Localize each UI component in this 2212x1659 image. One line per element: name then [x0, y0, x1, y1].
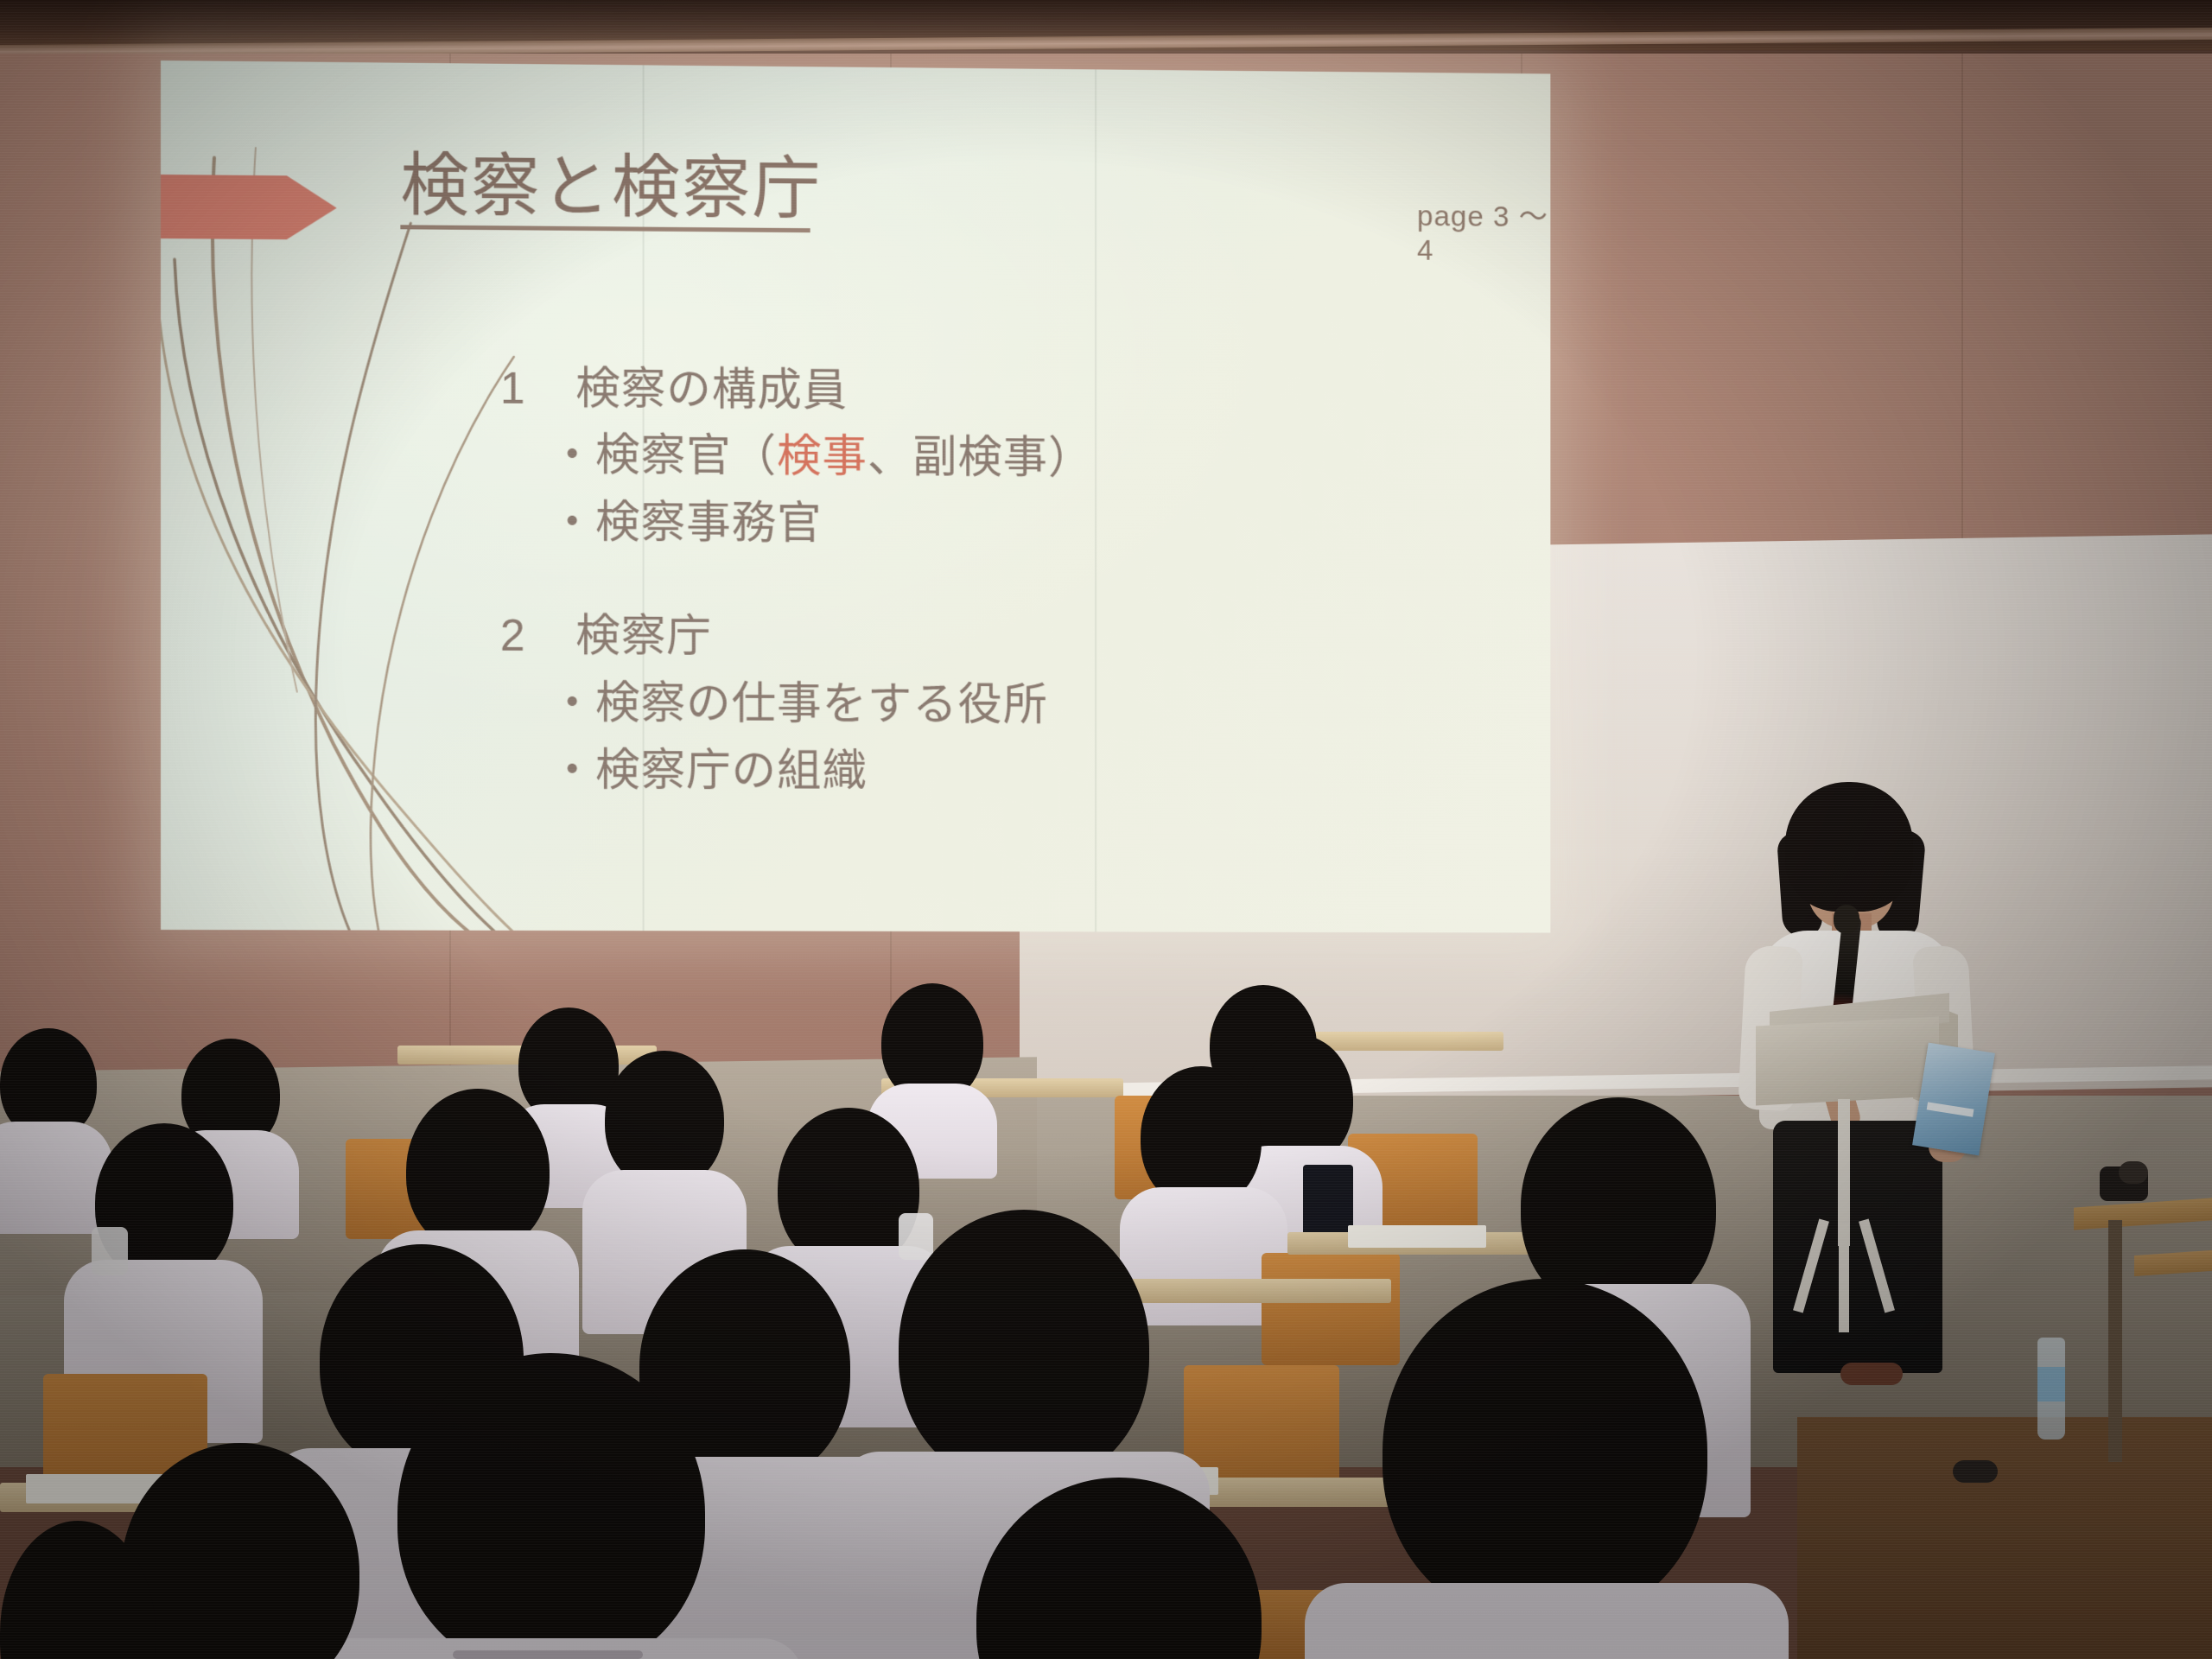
slide-page-label: page 3 〜 4 — [1417, 192, 1550, 268]
student-head — [397, 1353, 705, 1659]
student — [397, 1353, 709, 1659]
student-head — [899, 1210, 1149, 1486]
section-number: 1 — [500, 357, 575, 423]
slide-bullet: ・検察官（検事、副検事） — [550, 422, 1504, 494]
audience — [0, 994, 1901, 1659]
bullet-prefix: ・検察官（ — [550, 430, 777, 481]
title-arrow-icon — [161, 175, 337, 240]
bullet-prefix: ・検察の仕事をする役所 — [550, 678, 1048, 730]
table-object-lens — [2119, 1161, 2148, 1184]
student — [0, 1028, 104, 1184]
water-bottle-label — [2037, 1367, 2065, 1402]
lecture-hall-photo: 検察と検察庁 page 3 〜 4 1 検察の構成員 ・検察官（検事、副検事） … — [0, 0, 2212, 1659]
student — [0, 1521, 156, 1659]
paper-sheet — [1348, 1225, 1486, 1248]
section-gap — [500, 563, 1505, 609]
student-head — [1382, 1279, 1707, 1624]
section-heading-row: 2 検察庁 — [500, 604, 1505, 673]
bullet-prefix: ・検察庁の組織 — [550, 745, 867, 796]
section-number: 2 — [500, 604, 575, 670]
student — [1141, 1066, 1270, 1274]
student-head — [0, 1521, 156, 1659]
slide-bullet: ・検察の仕事をする役所 — [550, 670, 1504, 741]
slide-bullet: ・検察庁の組織 — [550, 737, 1504, 807]
student — [95, 1123, 242, 1339]
section-heading: 検察の構成員 — [575, 357, 848, 423]
lectern-foot — [1953, 1460, 1998, 1483]
handout-band — [1927, 1102, 1974, 1116]
face-mask — [92, 1227, 128, 1275]
bullet-suffix: 、副検事） — [868, 433, 1093, 484]
slide-section: 2 検察庁 ・検察の仕事をする役所 ・検察庁の組織 — [500, 604, 1505, 807]
chair — [1262, 1253, 1400, 1365]
slide-title: 検察と検察庁 — [400, 149, 1135, 227]
student-head — [406, 1089, 550, 1253]
section-heading-row: 1 検察の構成員 — [500, 357, 1505, 429]
section-heading: 検察庁 — [575, 605, 712, 671]
bullet-highlight: 検事 — [777, 432, 868, 482]
slide-bullet: ・検察事務官 — [550, 489, 1504, 562]
decorative-grass-graphic — [161, 138, 523, 933]
student-body — [1305, 1583, 1789, 1659]
student-head — [121, 1443, 359, 1659]
side-table-leg — [2108, 1220, 2122, 1462]
bullet-prefix: ・検察事務官 — [550, 498, 822, 550]
shirt-collar — [453, 1650, 643, 1659]
slide-section: 1 検察の構成員 ・検察官（検事、副検事） ・検察事務官 — [500, 357, 1505, 562]
student — [1382, 1279, 1711, 1659]
presenter-hair — [1785, 782, 1913, 912]
slide-title-block: 検察と検察庁 — [400, 149, 1135, 235]
student-head — [976, 1478, 1262, 1659]
projected-slide: 検察と検察庁 page 3 〜 4 1 検察の構成員 ・検察官（検事、副検事） … — [161, 60, 1550, 932]
student-head — [605, 1051, 724, 1189]
slide-body: 1 検察の構成員 ・検察官（検事、副検事） ・検察事務官 2 検察庁 ・検察の仕… — [500, 357, 1505, 814]
microphone-head — [1834, 905, 1859, 934]
student — [976, 1478, 1262, 1659]
student — [605, 1051, 728, 1241]
student — [121, 1443, 363, 1659]
